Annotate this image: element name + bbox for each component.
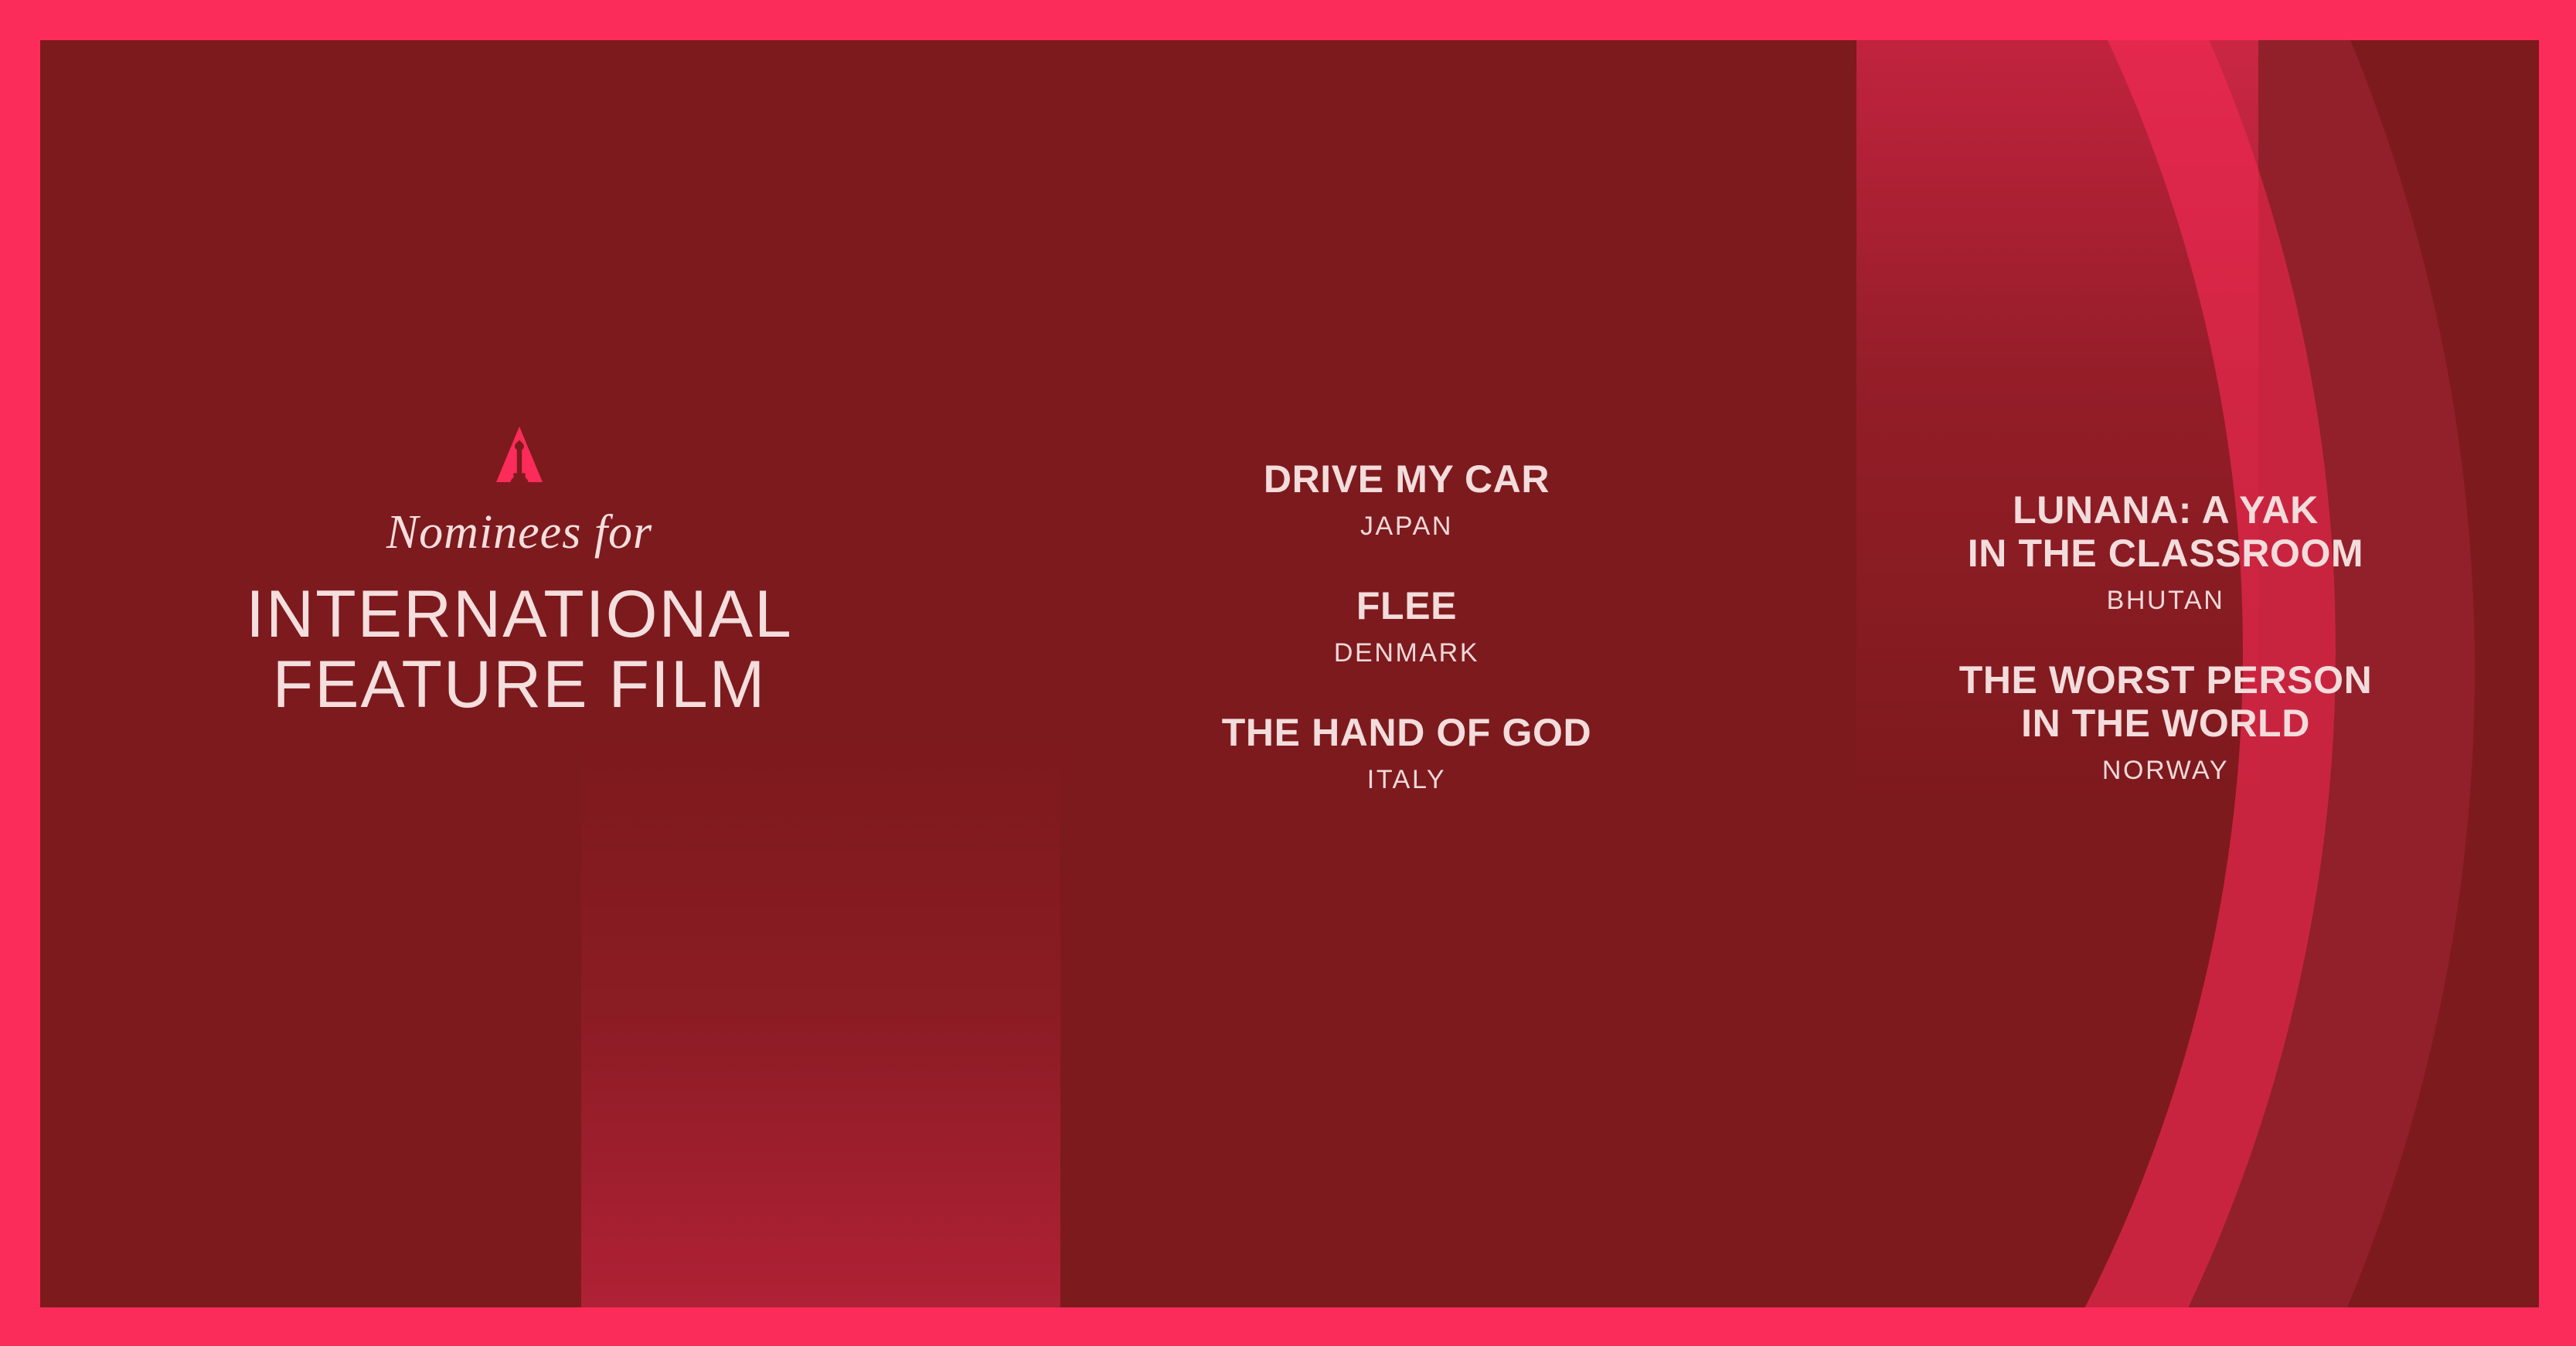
- nominee-country: DENMARK: [1097, 640, 1716, 666]
- nominee-title: DRIVE MY CAR: [1097, 457, 1716, 501]
- nominees-for-eyebrow: Nominees for: [148, 508, 890, 556]
- nominee-item: LUNANA: A YAK IN THE CLASSROOM BHUTAN: [1856, 488, 2475, 614]
- nominee-country: NORWAY: [1856, 757, 2475, 783]
- nominee-item: FLEE DENMARK: [1097, 584, 1716, 666]
- oscars-nominees-graphic: Nominees for INTERNATIONAL FEATURE FILM …: [0, 0, 2576, 1346]
- category-title: INTERNATIONAL FEATURE FILM: [148, 580, 890, 720]
- nominee-item: THE HAND OF GOD ITALY: [1097, 711, 1716, 793]
- nominee-title: THE HAND OF GOD: [1097, 711, 1716, 754]
- nominee-column-1: DRIVE MY CAR JAPAN FLEE DENMARK THE HAND…: [1097, 457, 1716, 793]
- nominees-panel: Nominees for INTERNATIONAL FEATURE FILM …: [40, 40, 2539, 1307]
- nominee-title: FLEE: [1097, 584, 1716, 627]
- academy-a-logo-icon: [496, 427, 543, 482]
- nominee-country: ITALY: [1097, 766, 1716, 793]
- nominee-title: THE WORST PERSON IN THE WORLD: [1856, 658, 2475, 745]
- nominee-item: DRIVE MY CAR JAPAN: [1097, 457, 1716, 539]
- nominee-country: JAPAN: [1097, 513, 1716, 539]
- nominee-column-2: LUNANA: A YAK IN THE CLASSROOM BHUTAN TH…: [1856, 488, 2475, 783]
- panel-content: Nominees for INTERNATIONAL FEATURE FILM …: [40, 40, 2539, 1307]
- category-block: Nominees for INTERNATIONAL FEATURE FILM: [148, 427, 890, 720]
- nominee-item: THE WORST PERSON IN THE WORLD NORWAY: [1856, 658, 2475, 783]
- nominee-country: BHUTAN: [1856, 587, 2475, 614]
- nominee-title: LUNANA: A YAK IN THE CLASSROOM: [1856, 488, 2475, 575]
